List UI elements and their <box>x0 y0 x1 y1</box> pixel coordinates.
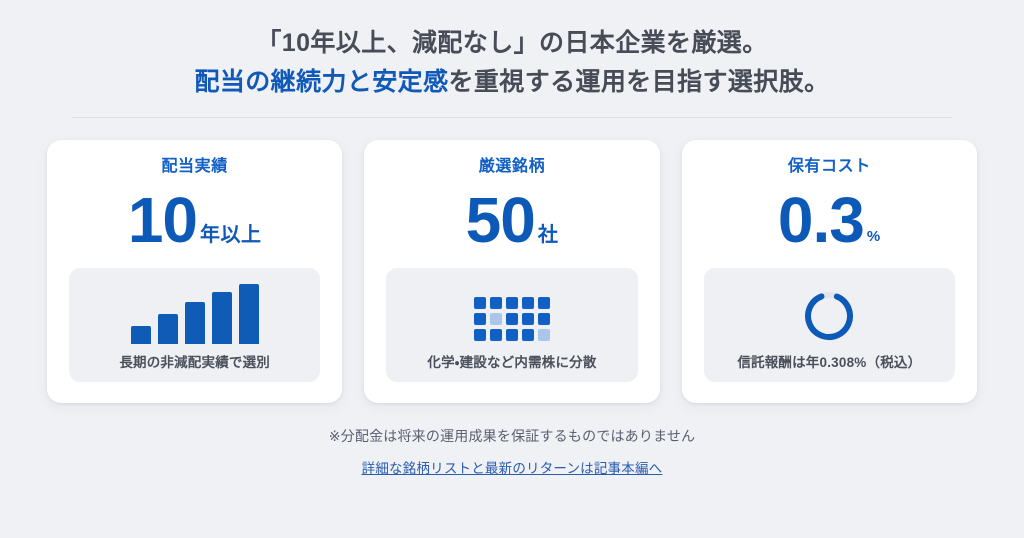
panel-caption: 信託報酬は年0.308%（税込） <box>737 355 921 371</box>
bar <box>239 284 259 344</box>
bar <box>212 292 232 344</box>
headline-line-1: 「10年以上、減配なし」の日本企業を厳選。 <box>0 26 1024 62</box>
grid-cell <box>522 313 534 325</box>
headline-accent-text: 配当の継続力と安定感 <box>194 68 448 96</box>
card-stat: 50 社 <box>466 188 559 250</box>
card-visual-panel: 長期の非減配実績で選別 <box>69 268 320 382</box>
grid-squares <box>474 297 550 341</box>
header-divider <box>72 117 952 118</box>
headline-line-2: 配当の継続力と安定感を重視する運用を目指す選択肢。 <box>0 65 1024 101</box>
grid-cell <box>474 297 486 309</box>
grid-cell <box>538 329 550 341</box>
grid-cell <box>538 297 550 309</box>
grid-squares-icon <box>474 282 550 344</box>
stat-unit: % <box>864 229 881 250</box>
card-stat: 0.3 % <box>778 188 881 250</box>
bar-chart <box>131 284 259 344</box>
grid-cell <box>506 297 518 309</box>
page-footer: ※分配金は将来の運用成果を保証するものではありません 詳細な銘柄リストと最新のリ… <box>329 426 696 478</box>
grid-cell <box>522 329 534 341</box>
stat-unit: 社 <box>535 225 559 250</box>
stat-unit: 年以上 <box>197 225 262 250</box>
page-header: 「10年以上、減配なし」の日本企業を厳選。 配当の継続力と安定感を重視する運用を… <box>0 0 1024 118</box>
bar <box>131 326 151 344</box>
grid-cell <box>490 297 502 309</box>
stat-card-dividend-record: 配当実績 10 年以上 長期の非減配実績で選別 <box>47 140 342 403</box>
grid-cell <box>474 313 486 325</box>
bar <box>158 314 178 344</box>
panel-caption: 化学・建設など内需株に分散 <box>427 355 596 371</box>
card-title: 保有コスト <box>788 159 871 175</box>
grid-cell <box>506 313 518 325</box>
bar-chart-icon <box>131 282 259 344</box>
stat-card-selected-stocks: 厳選銘柄 50 社 <box>364 140 659 403</box>
disclaimer-text: ※分配金は将来の運用成果を保証するものではありません <box>329 426 696 446</box>
promo-page: 「10年以上、減配なし」の日本企業を厳選。 配当の継続力と安定感を重視する運用を… <box>0 0 1024 538</box>
stat-value: 10 <box>128 191 197 250</box>
stat-card-row: 配当実績 10 年以上 長期の非減配実績で選別 <box>47 140 977 403</box>
donut-ring <box>803 290 855 342</box>
card-visual-panel: 化学・建設など内需株に分散 <box>386 268 637 382</box>
grid-cell <box>474 329 486 341</box>
grid-cell <box>522 297 534 309</box>
article-link[interactable]: 詳細な銘柄リストと最新のリターンは記事本編へ <box>362 457 663 477</box>
card-title: 厳選銘柄 <box>479 159 545 175</box>
stat-value: 50 <box>466 191 535 250</box>
grid-cell <box>490 313 502 325</box>
bar <box>185 302 205 344</box>
panel-caption: 長期の非減配実績で選別 <box>119 355 270 371</box>
headline-rest-text: を重視する運用を目指す選択肢。 <box>449 68 830 96</box>
stat-value: 0.3 <box>778 191 864 250</box>
donut-ring-icon <box>803 282 855 344</box>
card-stat: 10 年以上 <box>128 188 262 250</box>
grid-cell <box>506 329 518 341</box>
card-visual-panel: 信託報酬は年0.308%（税込） <box>704 268 955 382</box>
card-title: 配当実績 <box>161 159 227 175</box>
stat-card-holding-cost: 保有コスト 0.3 % 信託報酬は年0.308%（税込） <box>682 140 977 403</box>
grid-cell <box>490 329 502 341</box>
grid-cell <box>538 313 550 325</box>
